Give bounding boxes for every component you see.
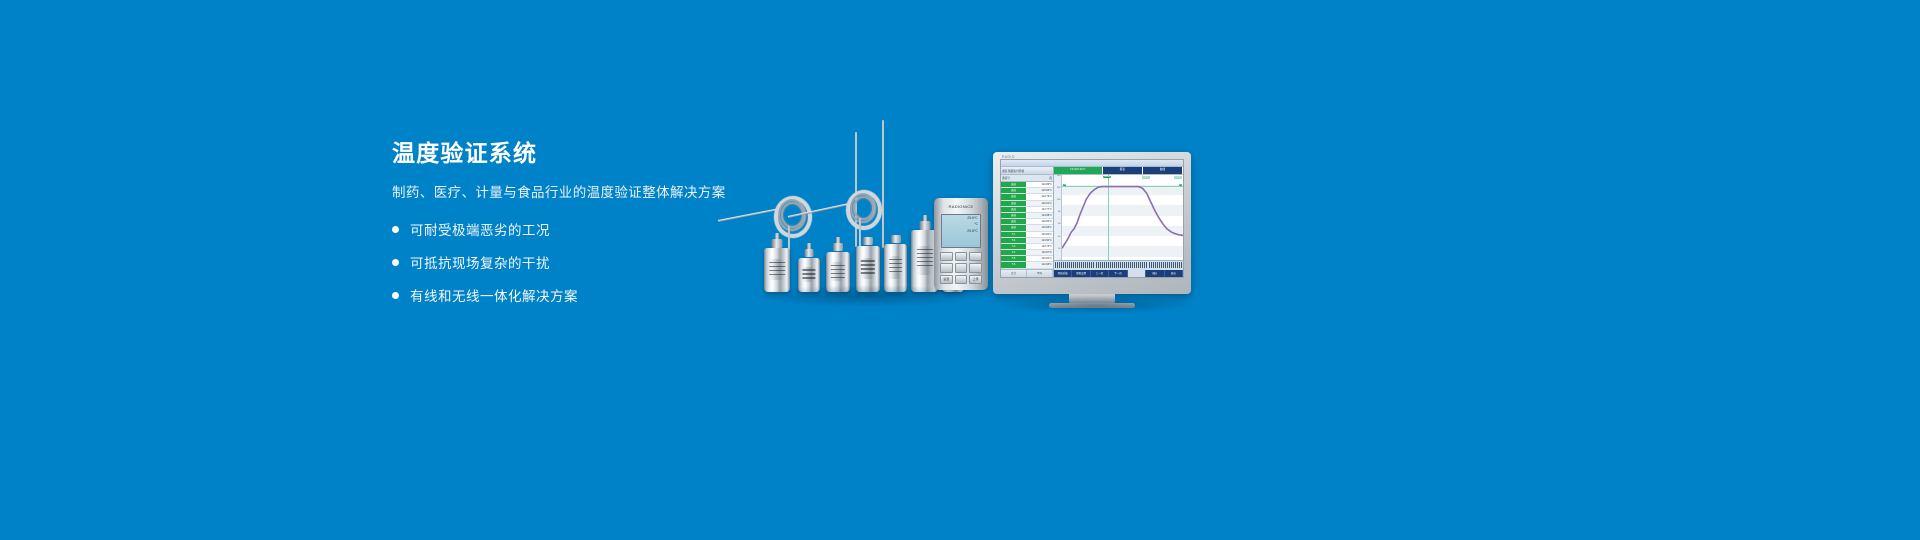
channel-row-list[interactable]: 通道124.86℃通道124.83℃通道124.79℃通道124.91℃通道12… — [1001, 182, 1053, 269]
x-axis-tick — [1144, 262, 1145, 268]
x-axis-tick — [1083, 262, 1084, 268]
bullet-dot-icon — [392, 292, 399, 299]
x-axis-tick — [1173, 262, 1174, 268]
x-axis-tick — [1146, 262, 1147, 268]
x-axis-tick — [1106, 262, 1107, 268]
y-axis-tick: 20 — [1058, 248, 1060, 250]
cell-channel: 通道 — [1001, 182, 1027, 187]
logger-label — [861, 258, 875, 279]
x-axis-tick — [1138, 262, 1139, 268]
x-axis-tick — [1159, 262, 1160, 268]
x-axis-tick — [1069, 262, 1070, 268]
keypad-key[interactable] — [940, 263, 953, 272]
cell-channel: T-5 — [1001, 256, 1027, 261]
logger-cap — [833, 243, 843, 251]
x-axis-tick — [1104, 262, 1105, 268]
cell-channel: 通道 — [1001, 194, 1027, 199]
x-axis-tick — [1132, 262, 1133, 268]
hero-banner: 温度验证系统 制药、医疗、计量与食品行业的温度验证整体解决方案 可耐受极端恶劣的… — [0, 0, 1920, 540]
cell-channel: 通道 — [1001, 219, 1027, 224]
status-button[interactable]: 上一页 — [1091, 270, 1109, 277]
cell-value: 124.79℃ — [1027, 194, 1053, 199]
monitor-display: RADIO 通道 测量值/计算值 通道号 值 通道124.86℃通道124.83… — [993, 152, 1191, 294]
cell-channel: T-2 — [1001, 238, 1027, 243]
tab-f0[interactable]: F0-SAT-26℃ — [1054, 167, 1103, 174]
y-axis-tick: 100 — [1057, 199, 1061, 201]
x-axis-tick — [1073, 262, 1074, 268]
chart-plot-area: 140120100806040200 46min 121℃ — [1054, 175, 1183, 261]
x-axis-tick — [1055, 262, 1056, 268]
cell-value: 124.81℃ — [1027, 256, 1053, 261]
logger-label — [831, 262, 845, 280]
x-axis-tick — [1059, 262, 1060, 268]
channel-table: 通道 测量值/计算值 通道号 值 通道124.86℃通道124.83℃通道124… — [1001, 167, 1054, 277]
cell-value: 124.84℃ — [1027, 232, 1053, 237]
keypad-key[interactable] — [955, 275, 968, 284]
handheld-display: 25.6℃ ℃ 25.8℃ — [941, 214, 981, 248]
software-status-bar[interactable]: 开始采集参数设置上一页下一页确认退出 — [1054, 270, 1183, 277]
keypad-key[interactable] — [969, 252, 982, 261]
logger-cap — [772, 239, 783, 248]
x-axis-tick — [1061, 262, 1062, 268]
x-axis-tick — [1134, 262, 1135, 268]
status-button[interactable] — [1128, 270, 1146, 277]
x-axis-tick — [1091, 262, 1092, 268]
status-button[interactable]: 退出 — [1165, 270, 1183, 277]
x-axis-tick — [1079, 262, 1080, 268]
cell-channel: T-3 — [1001, 244, 1027, 249]
keypad-key[interactable] — [940, 252, 953, 261]
x-axis-tick — [1057, 262, 1058, 268]
data-logger-icon — [764, 248, 790, 292]
needle-probe-icon — [882, 120, 884, 248]
cell-value: 124.80℃ — [1027, 219, 1053, 224]
bullet-dot-icon — [392, 226, 399, 233]
keypad-key[interactable] — [969, 263, 982, 272]
software-body: 通道 测量值/计算值 通道号 值 通道124.86℃通道124.83℃通道124… — [1001, 167, 1183, 277]
feature-label: 可抵抗现场复杂的干扰 — [410, 252, 550, 272]
chart-tabs[interactable]: F0-SAT-26℃ 报表 曲线 — [1054, 167, 1183, 175]
x-axis-tick — [1165, 262, 1166, 268]
tab-report[interactable]: 报表 — [1103, 167, 1143, 174]
cell-value: 124.93℃ — [1027, 262, 1053, 267]
x-axis-tick — [1181, 262, 1182, 268]
logger-cap — [805, 249, 814, 257]
cell-channel: 通道 — [1001, 207, 1027, 212]
x-axis-tick — [1075, 262, 1076, 268]
logger-label — [802, 267, 815, 283]
keypad-key[interactable]: 上传 — [969, 275, 982, 284]
logger-label — [889, 256, 903, 278]
x-axis-tick — [1124, 262, 1125, 268]
x-axis-tick — [1071, 262, 1072, 268]
status-button[interactable]: 确认 — [1146, 270, 1164, 277]
logger-cap — [863, 237, 873, 245]
keypad-key[interactable] — [955, 252, 968, 261]
x-axis-tick — [1155, 262, 1156, 268]
x-axis-tick — [1065, 262, 1066, 268]
y-axis-tick: 60 — [1058, 223, 1060, 225]
x-axis-tick — [1142, 262, 1143, 268]
chart-x-axis[interactable] — [1054, 260, 1183, 270]
x-axis-tick — [1179, 262, 1180, 268]
status-button[interactable]: 参数设置 — [1072, 270, 1090, 277]
x-axis-tick — [1163, 262, 1164, 268]
x-axis-tick — [1098, 262, 1099, 268]
status-button[interactable]: 下一页 — [1109, 270, 1127, 277]
keypad-key[interactable] — [955, 263, 968, 272]
x-axis-tick — [1108, 262, 1109, 268]
bullet-dot-icon — [392, 259, 399, 266]
x-axis-tick — [1102, 262, 1103, 268]
x-axis-tick — [1100, 262, 1101, 268]
column-header-channel: 通道号 — [1002, 176, 1010, 180]
x-axis-tick — [1167, 262, 1168, 268]
cell-value: 124.95℃ — [1027, 225, 1053, 230]
cell-value: 124.88℃ — [1027, 213, 1053, 218]
chart-series-line — [1062, 175, 1183, 261]
cell-channel: 通道 — [1001, 225, 1027, 230]
logger-label — [916, 246, 932, 275]
cell-channel: T-1 — [1001, 232, 1027, 237]
chart-y-axis: 140120100806040200 — [1054, 175, 1062, 261]
chart-panel: F0-SAT-26℃ 报表 曲线 140120100806040200 — [1054, 167, 1183, 277]
cell-channel: 通道 — [1001, 213, 1027, 218]
x-axis-tick — [1077, 262, 1078, 268]
x-axis-tick — [1096, 262, 1097, 268]
x-axis-tick — [1063, 262, 1064, 268]
x-axis-tick — [1112, 262, 1113, 268]
y-axis-tick: 40 — [1058, 236, 1060, 238]
handheld-brand: RADIONICE — [934, 204, 988, 209]
status-button[interactable]: 开始采集 — [1054, 270, 1072, 277]
x-axis-tick — [1130, 262, 1131, 268]
cell-value: 124.77℃ — [1027, 207, 1053, 212]
x-axis-tick — [1120, 262, 1121, 268]
x-axis-tick — [1153, 262, 1154, 268]
x-axis-tick — [1089, 262, 1090, 268]
tab-curve[interactable]: 曲线 — [1143, 167, 1183, 174]
x-axis-tick — [1093, 262, 1094, 268]
monitor-shadow — [1000, 296, 1190, 314]
table-footer-average: 平均 — [1027, 270, 1053, 277]
software-window: 通道 测量值/计算值 通道号 值 通道124.86℃通道124.83℃通道124… — [1000, 159, 1184, 278]
x-axis-tick — [1136, 262, 1137, 268]
cell-value: 124.90℃ — [1027, 238, 1053, 243]
x-axis-tick — [1110, 262, 1111, 268]
lcd-line: 25.8℃ — [942, 228, 980, 234]
chart-canvas: 46min 121℃ 121℃ B E — [1062, 175, 1183, 261]
cell-channel: T-4 — [1001, 250, 1027, 255]
x-axis-tick — [1114, 262, 1115, 268]
logger-label — [769, 259, 785, 279]
cell-value: 124.86℃ — [1027, 182, 1053, 187]
cell-channel: 通道 — [1001, 188, 1027, 193]
x-axis-tick — [1085, 262, 1086, 268]
x-axis-tick — [1169, 262, 1170, 268]
cell-value: 124.83℃ — [1027, 188, 1053, 193]
cell-channel: T-6 — [1001, 262, 1027, 267]
cell-value: 124.87℃ — [1027, 250, 1053, 255]
logger-cap — [919, 221, 930, 230]
x-axis-tick — [1126, 262, 1127, 268]
cell-channel: 通道 — [1001, 201, 1027, 206]
table-header: 通道 测量值/计算值 — [1001, 167, 1053, 175]
table-footer-total: 合计 — [1001, 270, 1027, 277]
x-axis-tick — [1087, 262, 1088, 268]
table-footer: 合计 平均 — [1001, 269, 1053, 277]
keypad-key[interactable]: 设置 — [940, 275, 953, 284]
x-axis-tick — [1140, 262, 1141, 268]
y-axis-tick: 120 — [1057, 187, 1061, 189]
x-axis-tick — [1128, 262, 1129, 268]
monitor-brand: RADIO — [1002, 155, 1015, 159]
software-titlebar — [1001, 160, 1183, 167]
x-axis-tick — [1177, 262, 1178, 268]
x-axis-tick — [1149, 262, 1150, 268]
handheld-keypad[interactable]: 设置 上传 — [940, 252, 982, 284]
x-axis-tick — [1081, 262, 1082, 268]
x-axis-tick — [1122, 262, 1123, 268]
x-axis-tick — [1118, 262, 1119, 268]
column-header-value: 值 — [1049, 176, 1052, 180]
logger-cap — [891, 235, 901, 243]
x-axis-tick — [1067, 262, 1068, 268]
x-axis-tick — [1161, 262, 1162, 268]
cell-value: 124.75℃ — [1027, 244, 1053, 249]
handheld-reader: RADIONICE 25.6℃ ℃ 25.8℃ 设置 上传 — [934, 198, 988, 290]
y-axis-tick: 80 — [1058, 211, 1060, 213]
x-axis-tick — [1175, 262, 1176, 268]
cell-value: 124.91℃ — [1027, 201, 1053, 206]
y-axis-tick: 140 — [1057, 175, 1061, 177]
x-axis-tick — [1151, 262, 1152, 268]
needle-probe-icon — [855, 132, 857, 247]
x-axis-tick — [1116, 262, 1117, 268]
x-axis-tick — [1171, 262, 1172, 268]
table-subheader: 通道号 值 — [1001, 175, 1053, 182]
feature-label: 有线和无线一体化解决方案 — [410, 285, 578, 305]
feature-label: 可耐受极端恶劣的工况 — [410, 219, 550, 239]
x-axis-tick — [1157, 262, 1158, 268]
